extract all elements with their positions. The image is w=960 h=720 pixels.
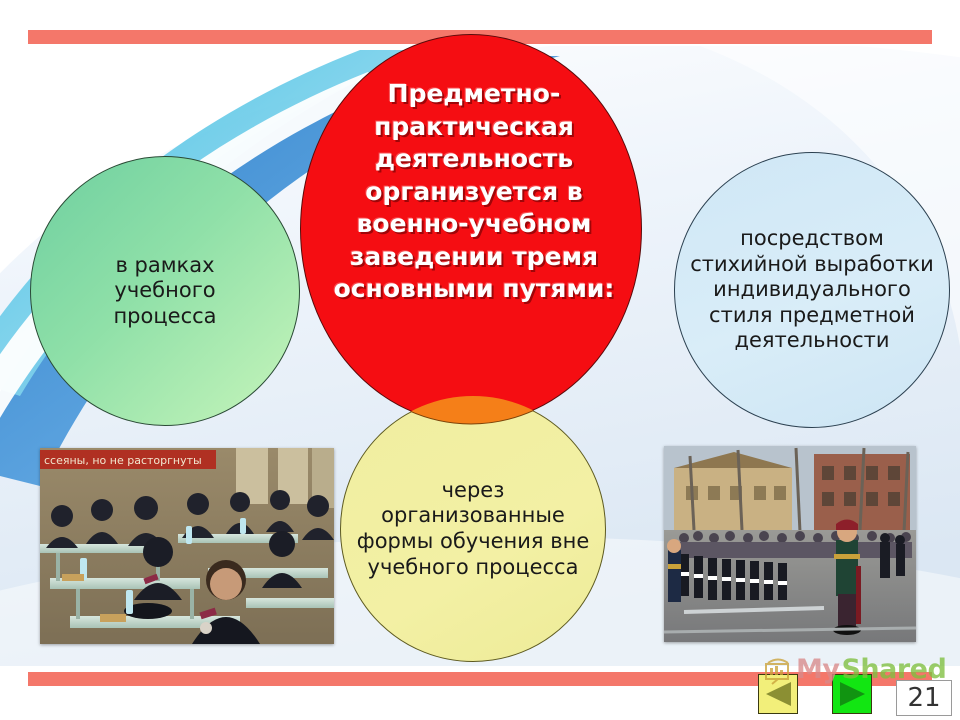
- triangle-left-icon: [763, 680, 793, 708]
- previous-slide-button[interactable]: [758, 674, 798, 714]
- central-line-1: Предметно-: [316, 78, 632, 111]
- central-line-3: деятельность: [316, 143, 632, 176]
- circle-educational-process-label: в рамках учебного процесса: [65, 253, 265, 330]
- circle-organized-forms: через организованные формы обучения вне …: [340, 396, 606, 662]
- page-number: 21: [896, 680, 952, 716]
- circle-organized-forms-label: через организованные формы обучения вне …: [351, 478, 595, 580]
- svg-text:ссеяны, но не расторгнуты: ссеяны, но не расторгнуты: [44, 454, 202, 467]
- central-line-2: практическая: [316, 111, 632, 144]
- photo-cadets-parade: [664, 446, 916, 642]
- next-slide-button[interactable]: [832, 674, 872, 714]
- triangle-right-icon: [837, 680, 867, 708]
- central-statement-text: Предметно- практическая деятельность орг…: [316, 78, 632, 306]
- central-line-5: военно-учебном: [316, 208, 632, 241]
- circle-spontaneous-style-label: посредством стихийной выработки индивиду…: [687, 226, 937, 354]
- central-line-7: основными путями:: [316, 273, 632, 306]
- slide-canvas: в рамках учебного процесса через организ…: [0, 0, 960, 720]
- central-line-6: заведении тремя: [316, 241, 632, 274]
- central-line-4: организуется в: [316, 176, 632, 209]
- circle-educational-process: в рамках учебного процесса: [30, 156, 300, 426]
- circle-spontaneous-style: посредством стихийной выработки индивиду…: [674, 152, 950, 428]
- photo-cadets-classroom: ссеяны, но не расторгнуты: [40, 448, 334, 644]
